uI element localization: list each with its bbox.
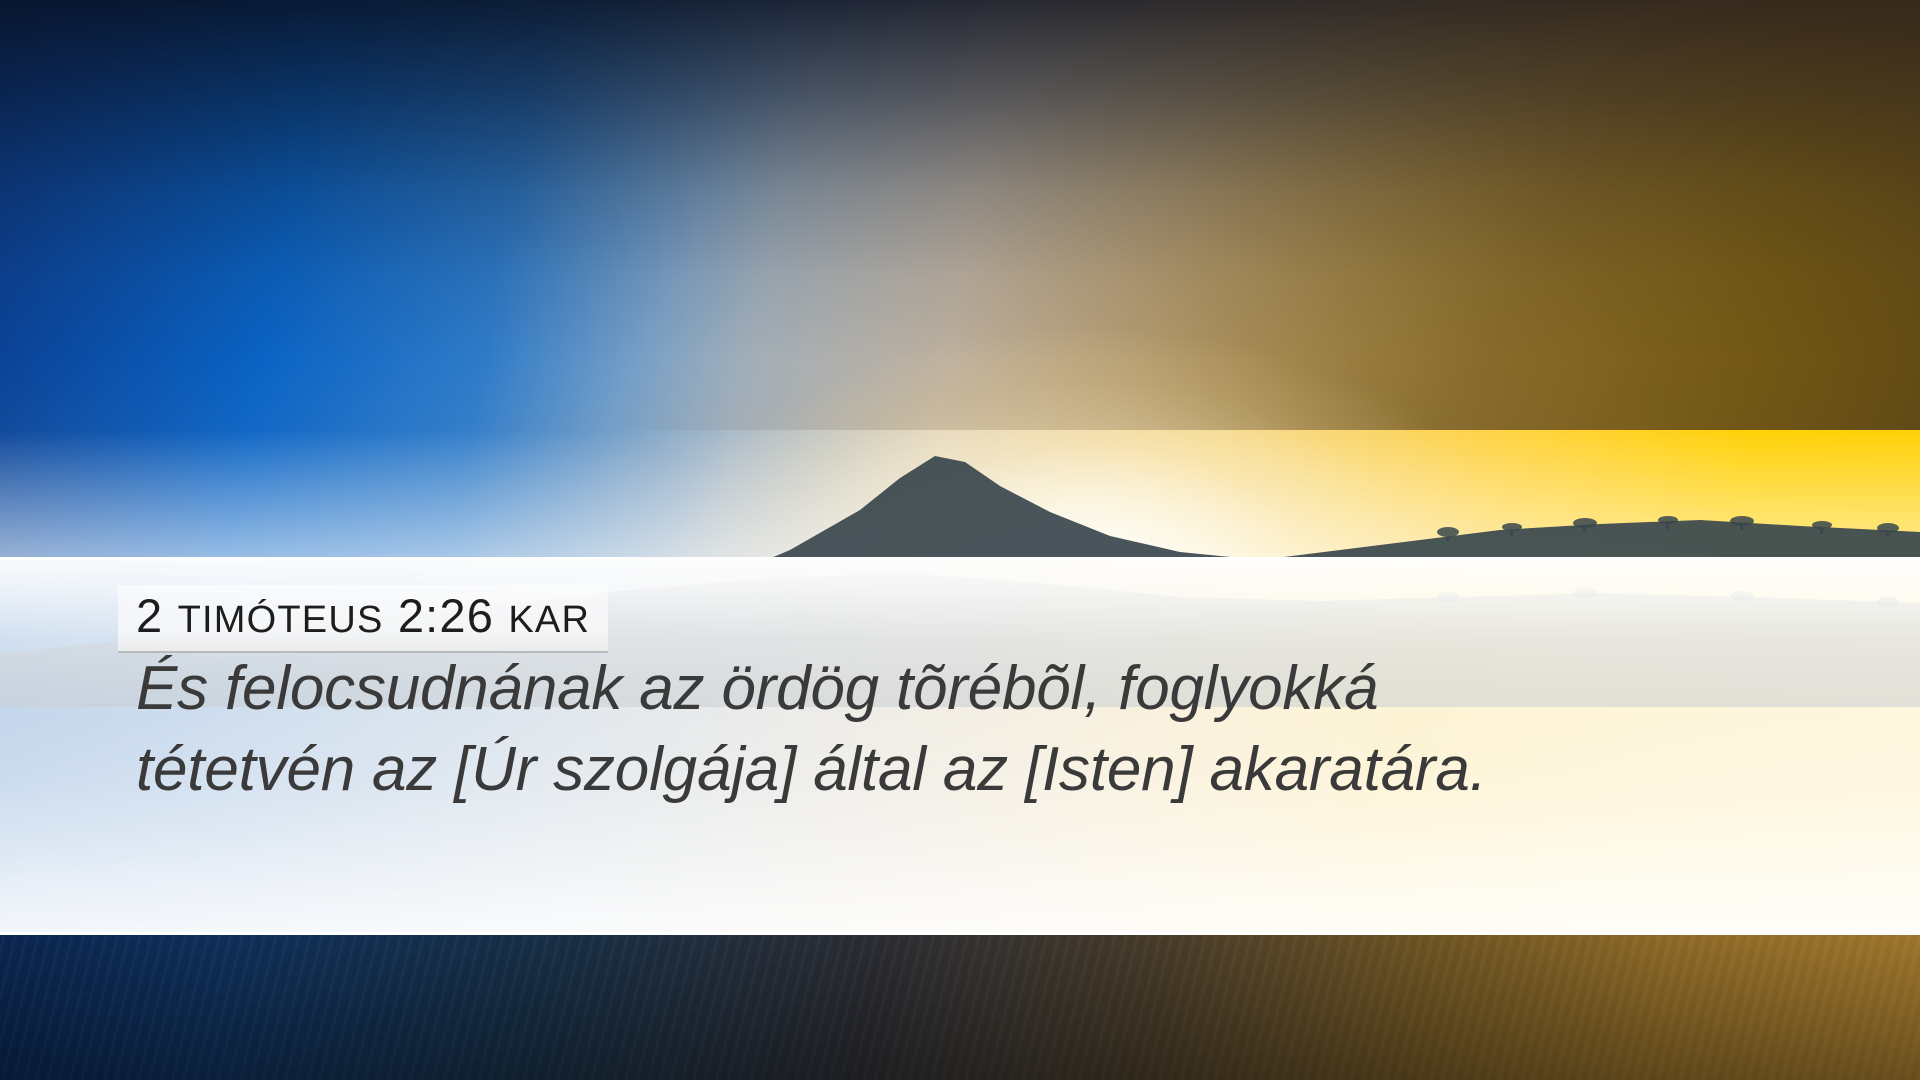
verse-reference: 2 TIMÓTEUS 2:26 KAR xyxy=(136,591,590,641)
reference-chapter-verse: 2:26 xyxy=(398,589,494,642)
verse-line-1: És felocsudnának az ördög tõrébõl, fogly… xyxy=(136,649,1836,730)
reference-book-number: 2 xyxy=(136,589,163,642)
verse-line-2: tétetvén az [Úr szolgája] által az [Iste… xyxy=(136,730,1836,811)
verse-image-canvas: 2 TIMÓTEUS 2:26 KAR És felocsudnának az … xyxy=(0,0,1920,1080)
verse-content: 2 TIMÓTEUS 2:26 KAR És felocsudnának az … xyxy=(0,557,1920,935)
water-surface xyxy=(0,935,1920,1080)
verse-text: És felocsudnának az ördög tõrébõl, fogly… xyxy=(136,649,1836,810)
water-shading xyxy=(0,935,1920,1080)
reference-translation: KAR xyxy=(508,599,590,641)
reference-book-name: TIMÓTEUS xyxy=(178,599,384,641)
verse-reference-box: 2 TIMÓTEUS 2:26 KAR xyxy=(118,585,608,653)
